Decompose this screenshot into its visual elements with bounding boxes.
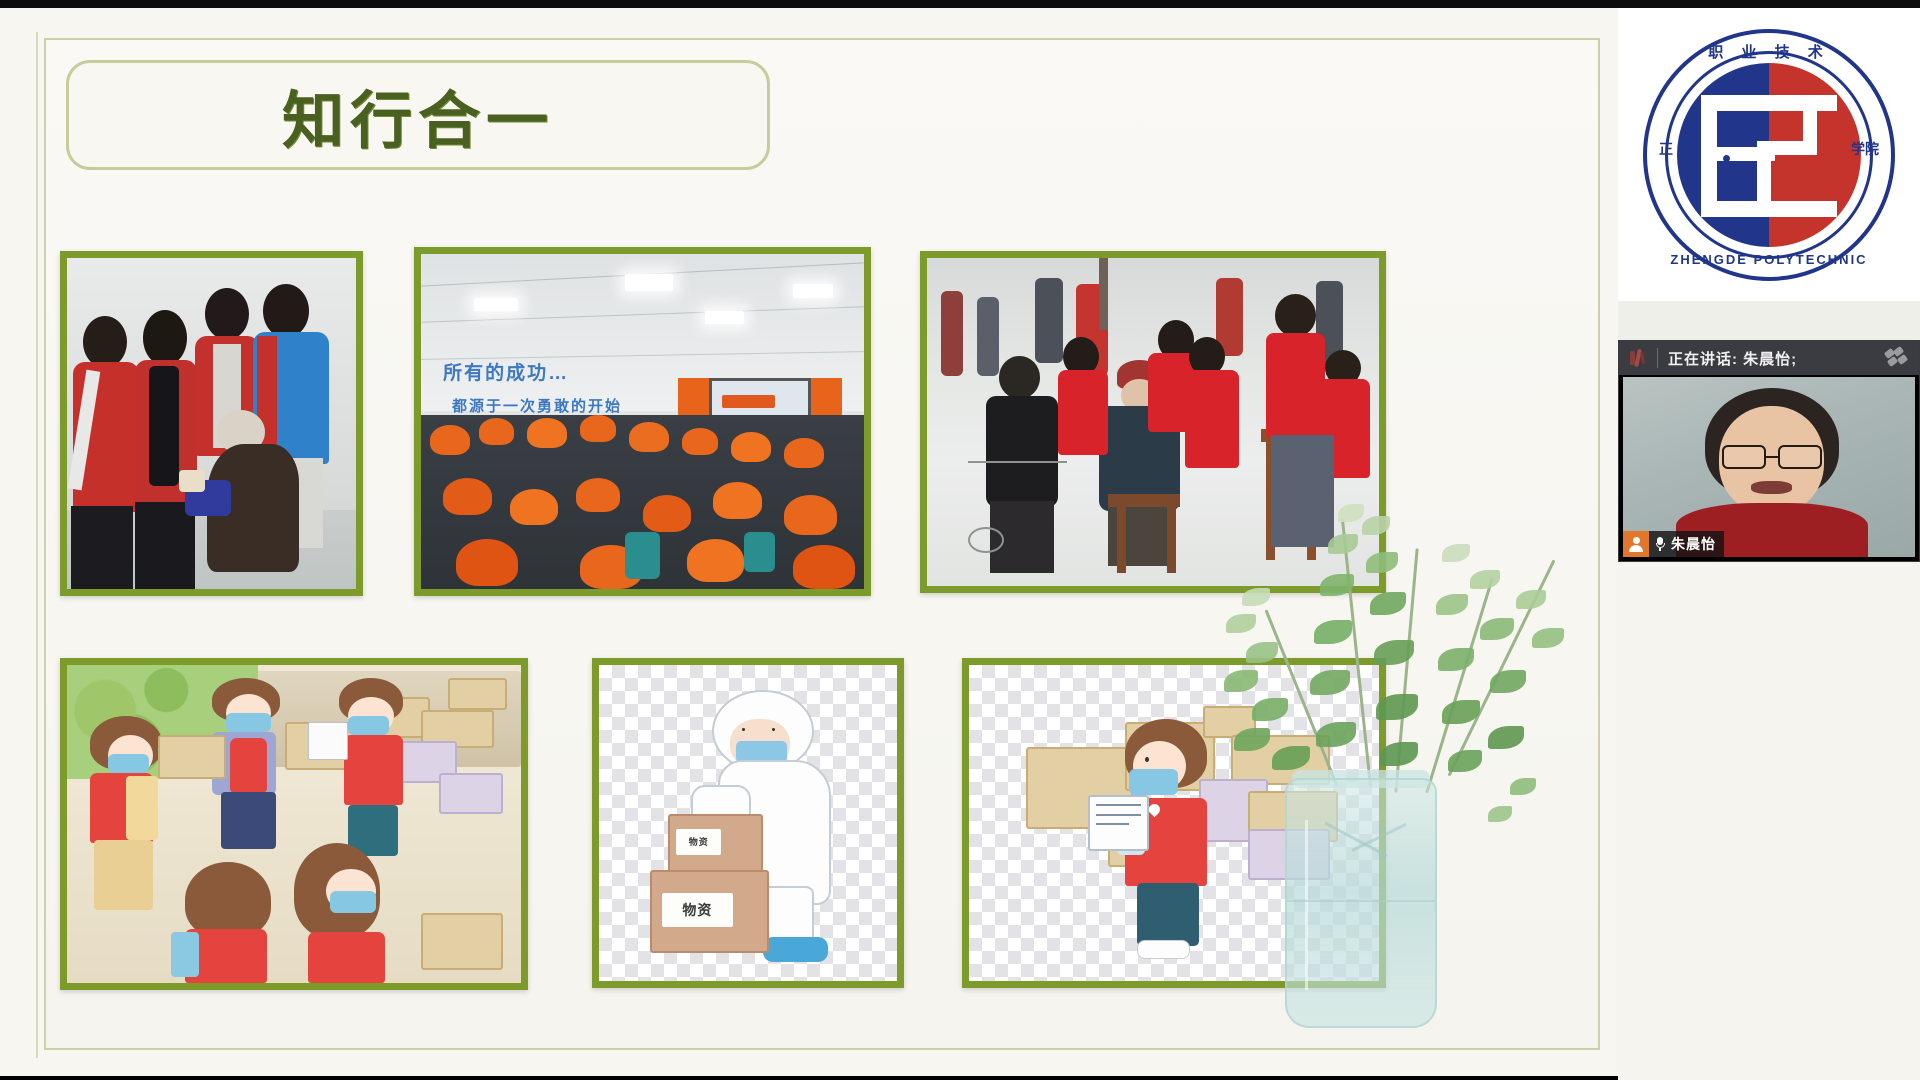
photo-2-wall-text-line2: 都源于一次勇敢的开始 bbox=[452, 395, 622, 416]
institution-logo: 职 业 技 术 正 学院 ZHENGDE POLYTECHNIC bbox=[1643, 29, 1895, 281]
layout-view-icon[interactable] bbox=[1885, 348, 1911, 368]
speaker-active-icon bbox=[1627, 348, 1647, 368]
institution-logo-panel: 职 业 技 术 正 学院 ZHENGDE POLYTECHNIC bbox=[1618, 8, 1920, 301]
photo-5-box-label-large: 物资 bbox=[662, 893, 734, 928]
right-gap-filler-bottom bbox=[1618, 562, 1920, 1080]
logo-en-text: ZHENGDE POLYTECHNIC bbox=[1643, 252, 1895, 267]
participant-icon bbox=[1623, 531, 1649, 557]
glasses-icon bbox=[1722, 445, 1821, 468]
logo-cn-arc-text: 职 业 技 术 bbox=[1643, 41, 1895, 62]
page-title: 知行合一 bbox=[282, 70, 554, 160]
shared-slide: 知行合一 bbox=[0, 8, 1618, 1076]
logo-cn-left-char: 正 bbox=[1659, 139, 1673, 159]
participant-name: 朱晨怡 bbox=[1671, 534, 1724, 554]
speaker-video-feed: 朱晨怡 bbox=[1623, 377, 1915, 557]
plant-glass-jar bbox=[1285, 778, 1437, 1028]
photo-2-wall-text-line1: 所有的成功… bbox=[443, 358, 569, 385]
screen-root: 知行合一 bbox=[0, 0, 1920, 1080]
video-panel-header: 正在讲话: 朱晨怡; bbox=[1619, 341, 1919, 375]
microphone-icon[interactable] bbox=[1649, 537, 1671, 551]
participant-name-bar: 朱晨怡 bbox=[1623, 531, 1724, 557]
slide-title-pill: 知行合一 bbox=[66, 60, 770, 170]
slide-edge-line bbox=[36, 32, 38, 1058]
photo-5-box-label-small: 物资 bbox=[676, 829, 721, 854]
right-gap-filler-top bbox=[1618, 301, 1920, 340]
photo-1-volunteers-indoor bbox=[60, 251, 363, 596]
header-divider bbox=[1657, 348, 1658, 368]
top-black-strip bbox=[0, 0, 1920, 8]
speaker-video-panel[interactable]: 正在讲话: 朱晨怡; bbox=[1618, 340, 1920, 562]
speaking-status-text: 正在讲话: 朱晨怡; bbox=[1668, 348, 1885, 369]
photo-5-illustration-hazmat-supplies: 物资 物资 bbox=[592, 658, 904, 988]
photo-2-assembly-hall: 所有的成功… 都源于一次勇敢的开始 bbox=[414, 247, 871, 596]
decorative-plant-illustration bbox=[1180, 478, 1610, 1048]
photo-4-illustration-volunteers-boxes bbox=[60, 658, 528, 990]
avatar-mouth bbox=[1751, 481, 1792, 494]
logo-monogram-glyph bbox=[1701, 95, 1837, 217]
logo-cn-right-char: 学院 bbox=[1851, 139, 1879, 159]
